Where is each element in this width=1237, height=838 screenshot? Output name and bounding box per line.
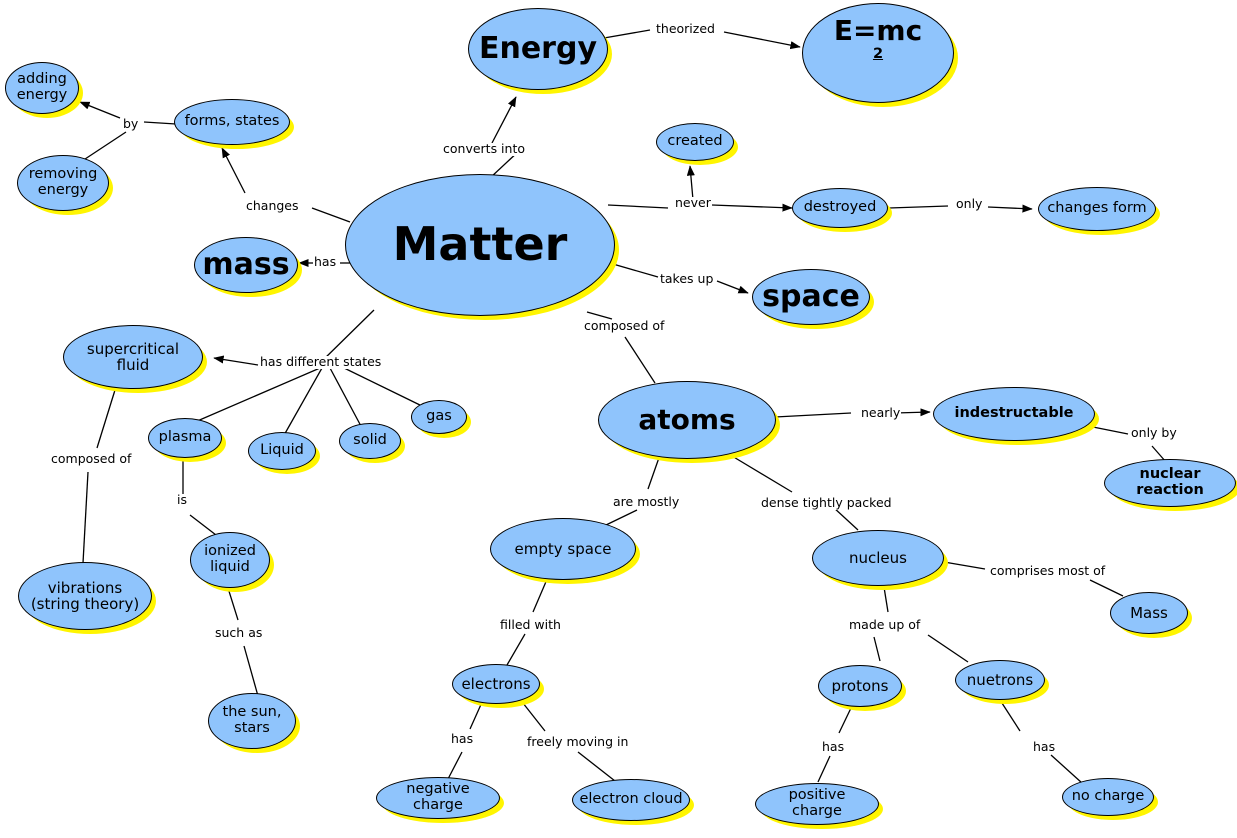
node-nuclear-reaction-label: nuclear reaction [1105,467,1235,498]
node-solid-label: solid [347,433,393,449]
node-nuetrons[interactable]: nuetrons [955,660,1045,700]
edge-label-theorized: theorized [655,23,716,36]
node-emc2-superscript: 2 [828,46,928,62]
edge-label-nearly: nearly [860,407,901,420]
node-forms-states[interactable]: forms, states [174,99,290,145]
node-empty-space[interactable]: empty space [490,518,636,580]
edge-label-changes: changes [245,200,300,213]
edge-label-comprises-most-of: comprises most of [989,565,1106,578]
edge-label-only-by: only by [1130,427,1178,440]
node-nucleus[interactable]: nucleus [812,530,944,586]
node-indestructable-label: indestructable [948,406,1079,422]
node-mass-big[interactable]: mass [194,237,298,293]
node-nuetrons-label: nuetrons [961,672,1039,688]
node-nuclear-reaction[interactable]: nuclear reaction [1104,459,1236,507]
node-matter-label: Matter [387,220,574,270]
node-protons-label: protons [826,678,895,694]
node-electron-cloud[interactable]: electron cloud [572,779,690,821]
node-changes-form-label: changes form [1041,201,1152,217]
node-plasma[interactable]: plasma [148,418,222,458]
node-electrons[interactable]: electrons [452,664,540,704]
node-liquid[interactable]: Liquid [248,432,316,470]
node-matter[interactable]: Matter [345,174,615,316]
node-created[interactable]: created [656,123,734,161]
node-positive-charge-label: positive charge [756,788,878,819]
edge-label-takes-up: takes up [659,273,714,286]
node-emc2-label: E=mc2 [822,16,934,62]
edge-label-such-as: such as [214,627,263,640]
edge-matter-energy [490,97,520,178]
edge-matter-states [188,310,424,437]
edge-label-converts-into: converts into [442,143,526,156]
node-nucleus-label: nucleus [843,550,913,566]
node-space-big[interactable]: space [752,269,870,325]
edge-label-freely-moving-in: freely moving in [526,736,629,749]
node-plasma-label: plasma [153,430,218,446]
edge-label-filled-with: filled with [499,619,562,632]
edge-supercritical-vibrations [83,390,115,563]
node-mass-small[interactable]: Mass [1110,592,1188,634]
node-sun-stars-label: the sun, stars [217,705,288,736]
node-created-label: created [661,134,728,150]
node-indestructable[interactable]: indestructable [933,387,1095,441]
node-removing-energy[interactable]: removing energy [17,155,109,211]
node-ionized-liquid-label: ionized liquid [198,544,262,575]
node-adding-energy[interactable]: adding energy [5,62,79,114]
node-vibrations[interactable]: vibrations (string theory) [18,562,152,630]
node-protons[interactable]: protons [818,665,902,707]
node-mass-small-label: Mass [1124,605,1174,621]
node-negative-charge[interactable]: negative charge [376,777,500,819]
node-ionized-liquid[interactable]: ionized liquid [190,532,270,588]
edge-label-composed-of-atoms: composed of [583,320,665,333]
node-no-charge-label: no charge [1066,789,1151,805]
node-energy-label: Energy [473,33,603,65]
node-liquid-label: Liquid [254,443,310,459]
node-vibrations-label: vibrations (string theory) [25,580,145,612]
node-removing-energy-label: removing energy [23,167,104,198]
edge-label-by: by [122,118,139,131]
edge-ionized-sunstars [228,588,258,696]
node-negative-charge-label: negative charge [377,782,499,813]
node-no-charge[interactable]: no charge [1062,778,1154,816]
node-adding-energy-label: adding energy [11,72,74,103]
concept-map-canvas: Matter Energy E=mc2 forms, states adding… [0,0,1237,838]
edge-atoms-indestructable [775,412,930,417]
edge-label-only: only [955,198,983,211]
node-space-big-label: space [756,281,866,313]
node-atoms-label: atoms [632,405,741,435]
node-gas-label: gas [420,409,458,425]
edge-label-made-up-of: made up of [848,619,921,632]
edge-label-dense-tightly-packed: dense tightly packed [760,497,893,510]
edge-label-composed-of-vibrations: composed of [50,453,132,466]
node-empty-space-label: empty space [509,541,618,557]
edge-label-has-nuetrons: has [1032,741,1056,754]
node-emc2[interactable]: E=mc2 [802,3,954,103]
node-solid[interactable]: solid [339,423,401,459]
node-mass-big-label: mass [196,249,295,281]
node-energy[interactable]: Energy [468,8,608,90]
node-atoms[interactable]: atoms [598,381,776,459]
node-changes-form[interactable]: changes form [1038,187,1156,231]
edge-label-has: has [313,256,337,269]
node-destroyed[interactable]: destroyed [792,188,888,228]
node-supercritical-fluid-label: supercritical fluid [81,341,185,373]
edge-atoms-emptyspace [606,452,661,525]
node-supercritical-fluid[interactable]: supercritical fluid [63,325,203,389]
node-gas[interactable]: gas [411,400,467,434]
edge-label-are-mostly: are mostly [612,496,680,509]
edge-label-has-electrons: has [450,733,474,746]
edge-label-has-different-states: has different states [259,356,382,369]
node-forms-states-label: forms, states [179,114,286,130]
node-electrons-label: electrons [455,676,536,692]
edge-label-never: never [674,197,712,210]
node-positive-charge[interactable]: positive charge [755,783,879,825]
edge-label-has-protons: has [821,741,845,754]
node-destroyed-label: destroyed [798,200,883,216]
edge-atoms-nucleus [727,453,858,530]
node-electron-cloud-label: electron cloud [573,792,688,808]
edge-label-is: is [176,494,188,507]
node-sun-stars[interactable]: the sun, stars [208,693,296,749]
